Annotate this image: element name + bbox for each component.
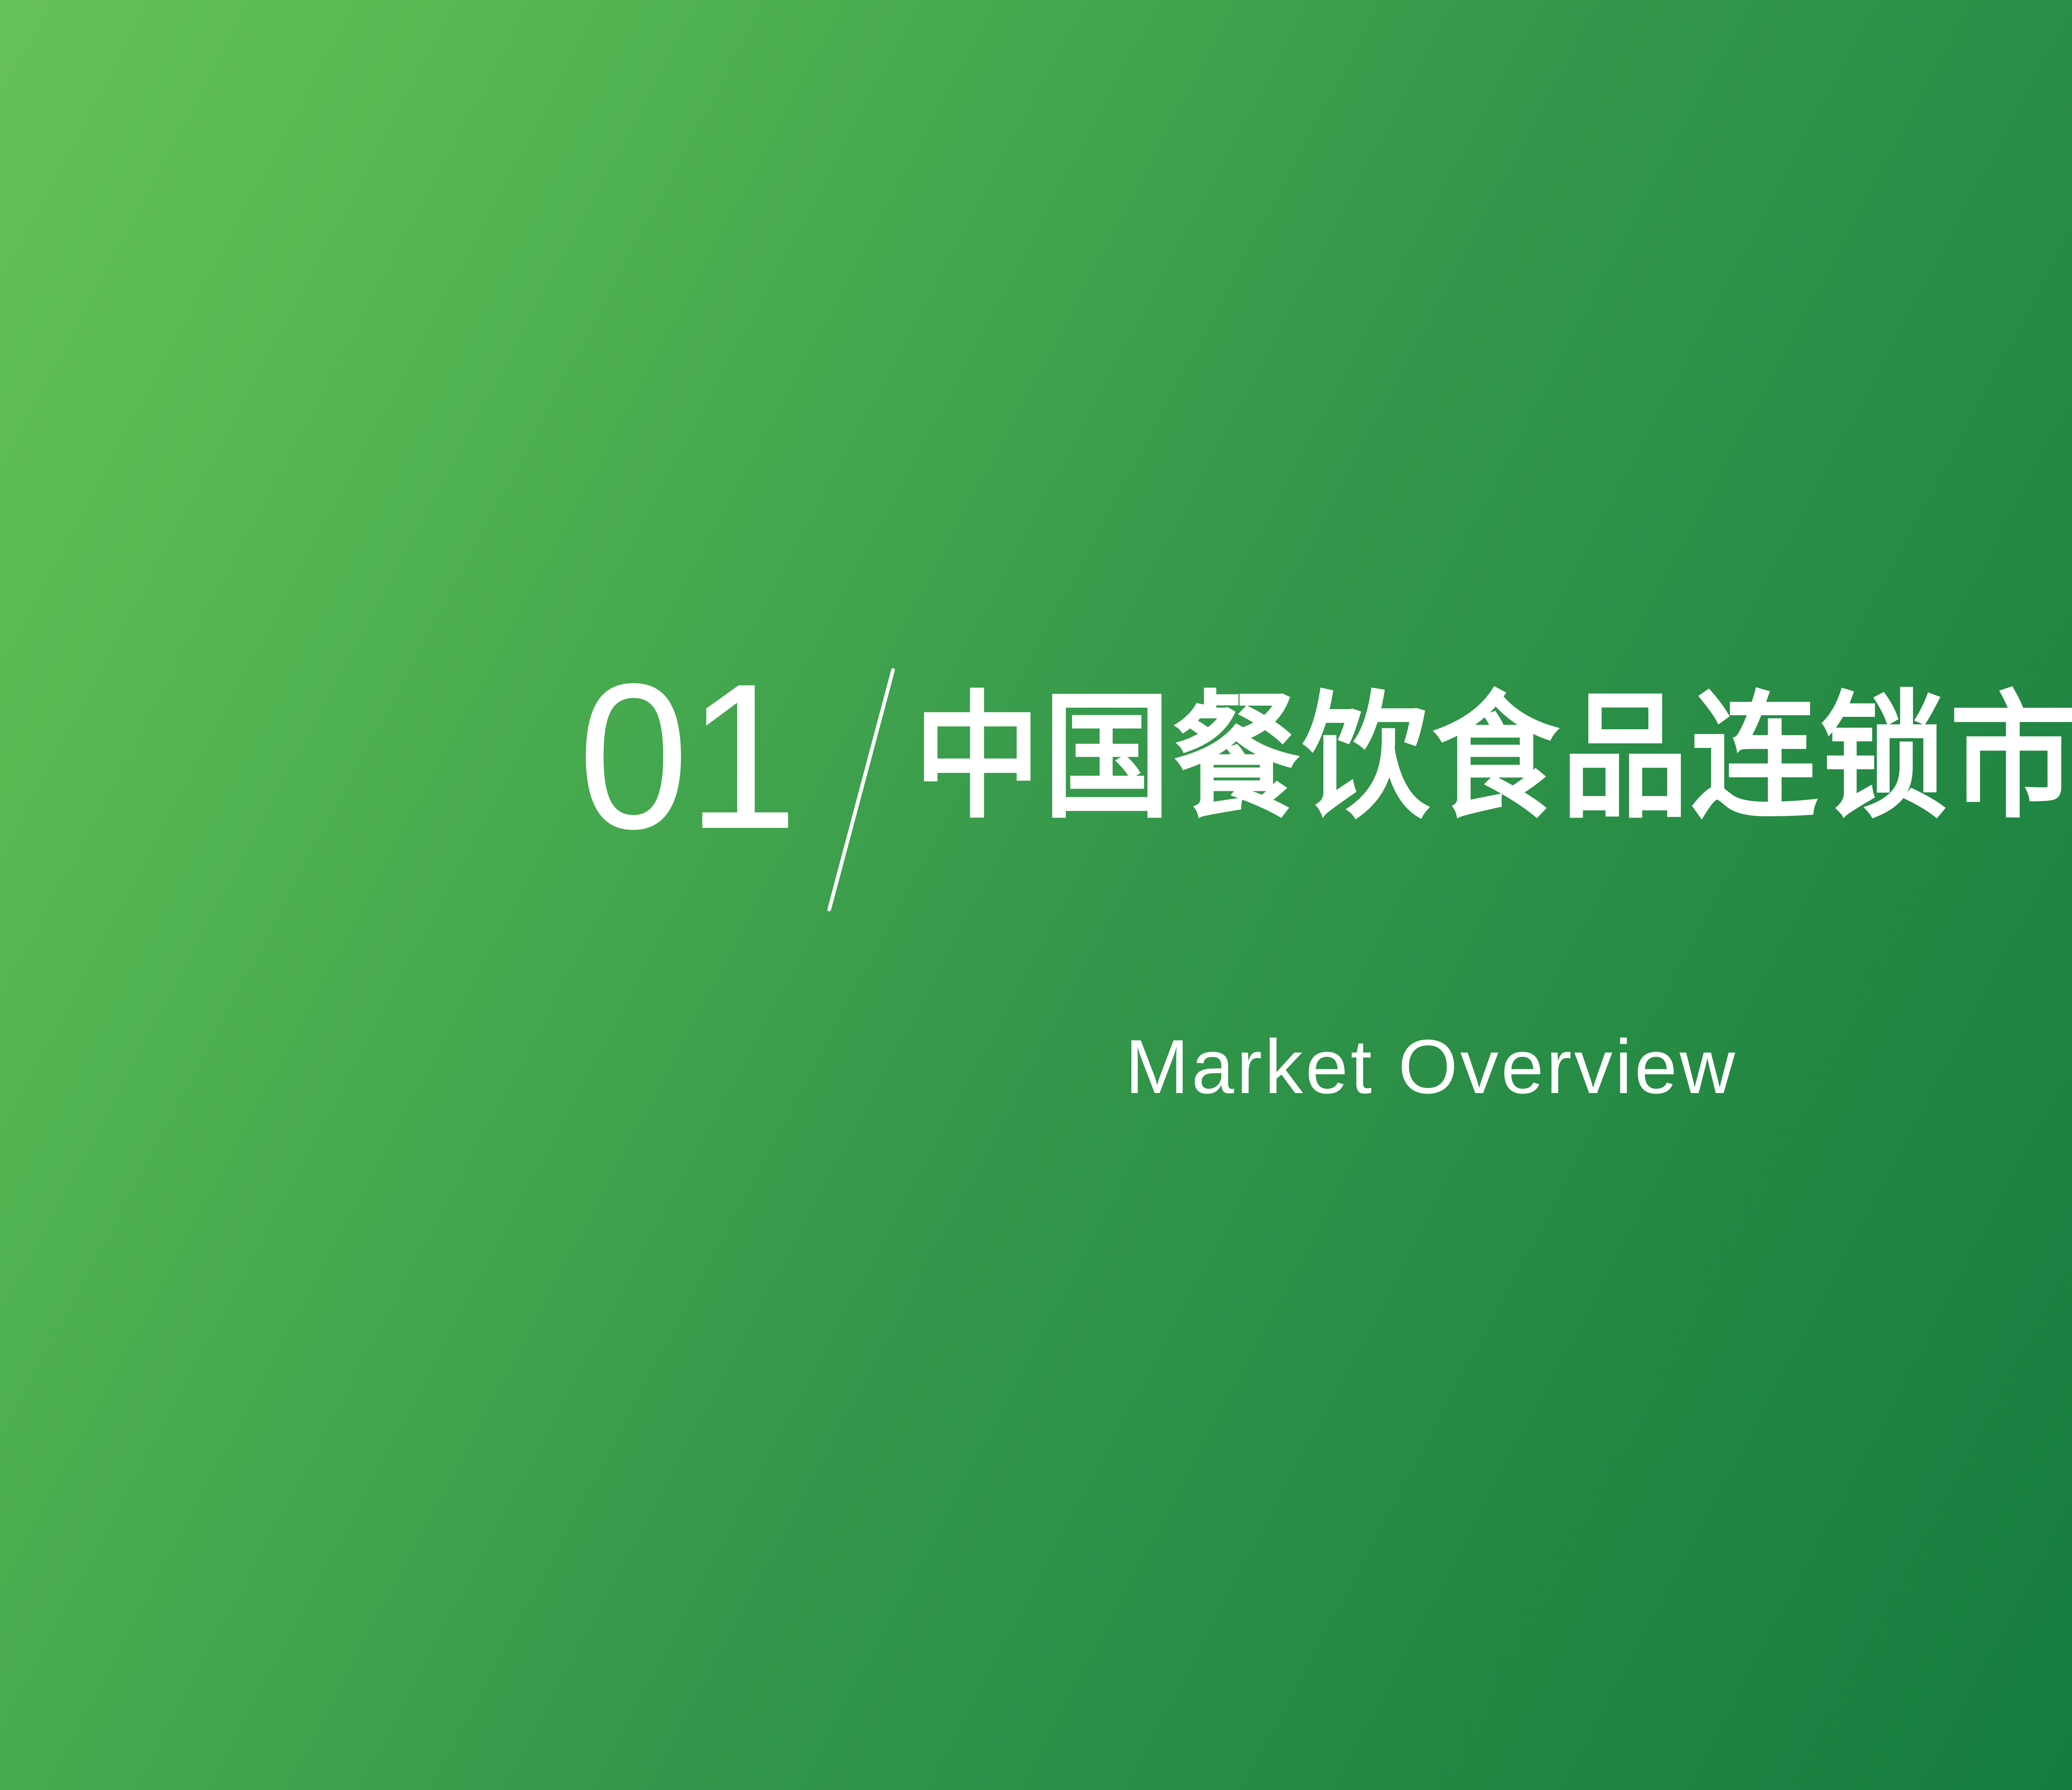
diagonal-slash-icon (805, 661, 929, 918)
section-title-chinese: 中国餐饮食品连锁市场概览 (914, 689, 2072, 826)
section-title-english: Market Overview (1125, 1019, 1738, 1115)
section-number: 01 (578, 661, 796, 851)
section-divider-slide: Research 艾瑞咨询 01 中国餐饮食品连锁市场概览 Market Ove… (0, 0, 2072, 1790)
section-headline: 01 中国餐饮食品连锁市场概览 (578, 661, 2072, 918)
